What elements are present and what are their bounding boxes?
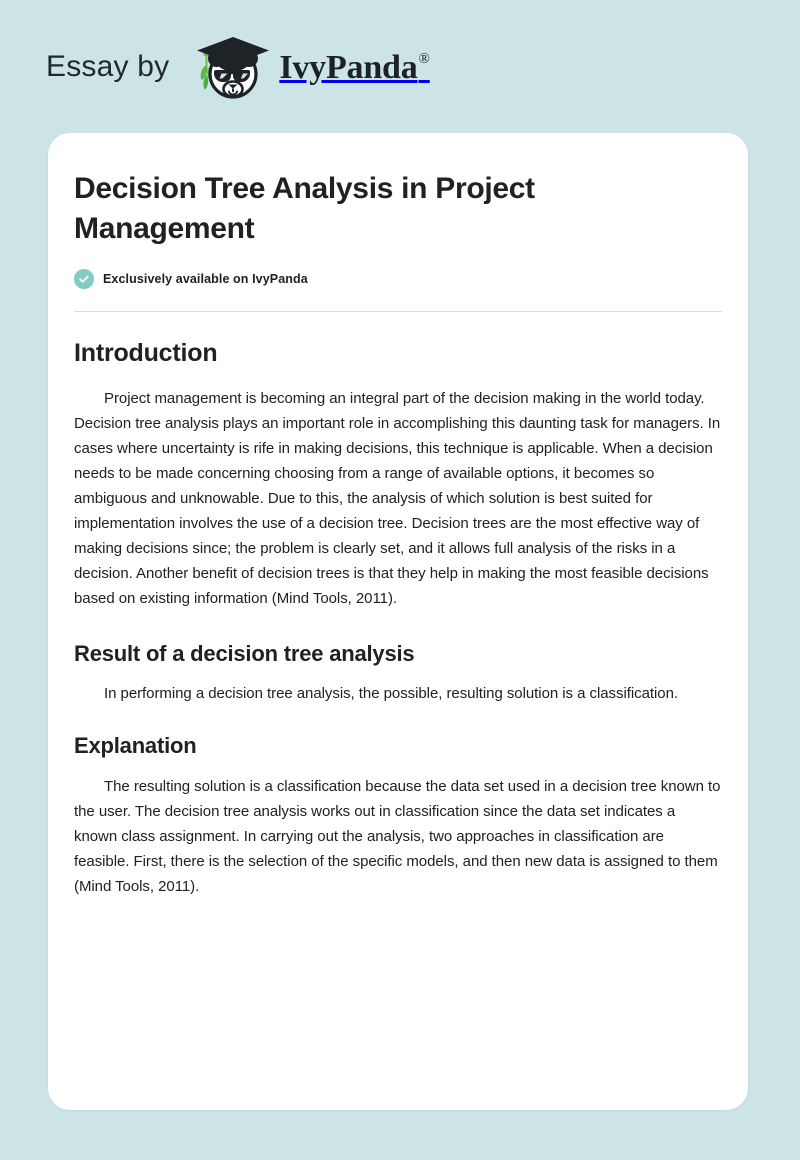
title-divider xyxy=(74,311,722,312)
section-heading-explanation: Explanation xyxy=(74,733,722,759)
check-circle-icon xyxy=(74,269,94,289)
exclusivity-badge: Exclusively available on IvyPanda xyxy=(74,269,722,289)
registered-mark: ® xyxy=(419,51,430,67)
section-paragraph: The resulting solution is a classificati… xyxy=(74,774,722,899)
section-heading-result: Result of a decision tree analysis xyxy=(74,641,722,667)
essay-card: Decision Tree Analysis in Project Manage… xyxy=(48,133,748,1110)
ivypanda-logo-link[interactable]: IvyPanda® xyxy=(183,31,428,105)
page-title: Decision Tree Analysis in Project Manage… xyxy=(74,169,664,249)
site-header: Essay by xyxy=(0,0,800,133)
essay-content: Decision Tree Analysis in Project Manage… xyxy=(74,169,722,899)
brand-name-text: IvyPanda xyxy=(279,49,417,86)
panda-graduate-icon xyxy=(183,31,275,105)
section-paragraph: Project management is becoming an integr… xyxy=(74,386,722,611)
section-paragraph: In performing a decision tree analysis, … xyxy=(74,681,722,706)
brand-wordmark: IvyPanda® xyxy=(279,51,428,85)
exclusivity-label: Exclusively available on IvyPanda xyxy=(103,273,308,286)
essay-by-label: Essay by xyxy=(46,52,169,82)
section-heading-introduction: Introduction xyxy=(74,338,722,368)
